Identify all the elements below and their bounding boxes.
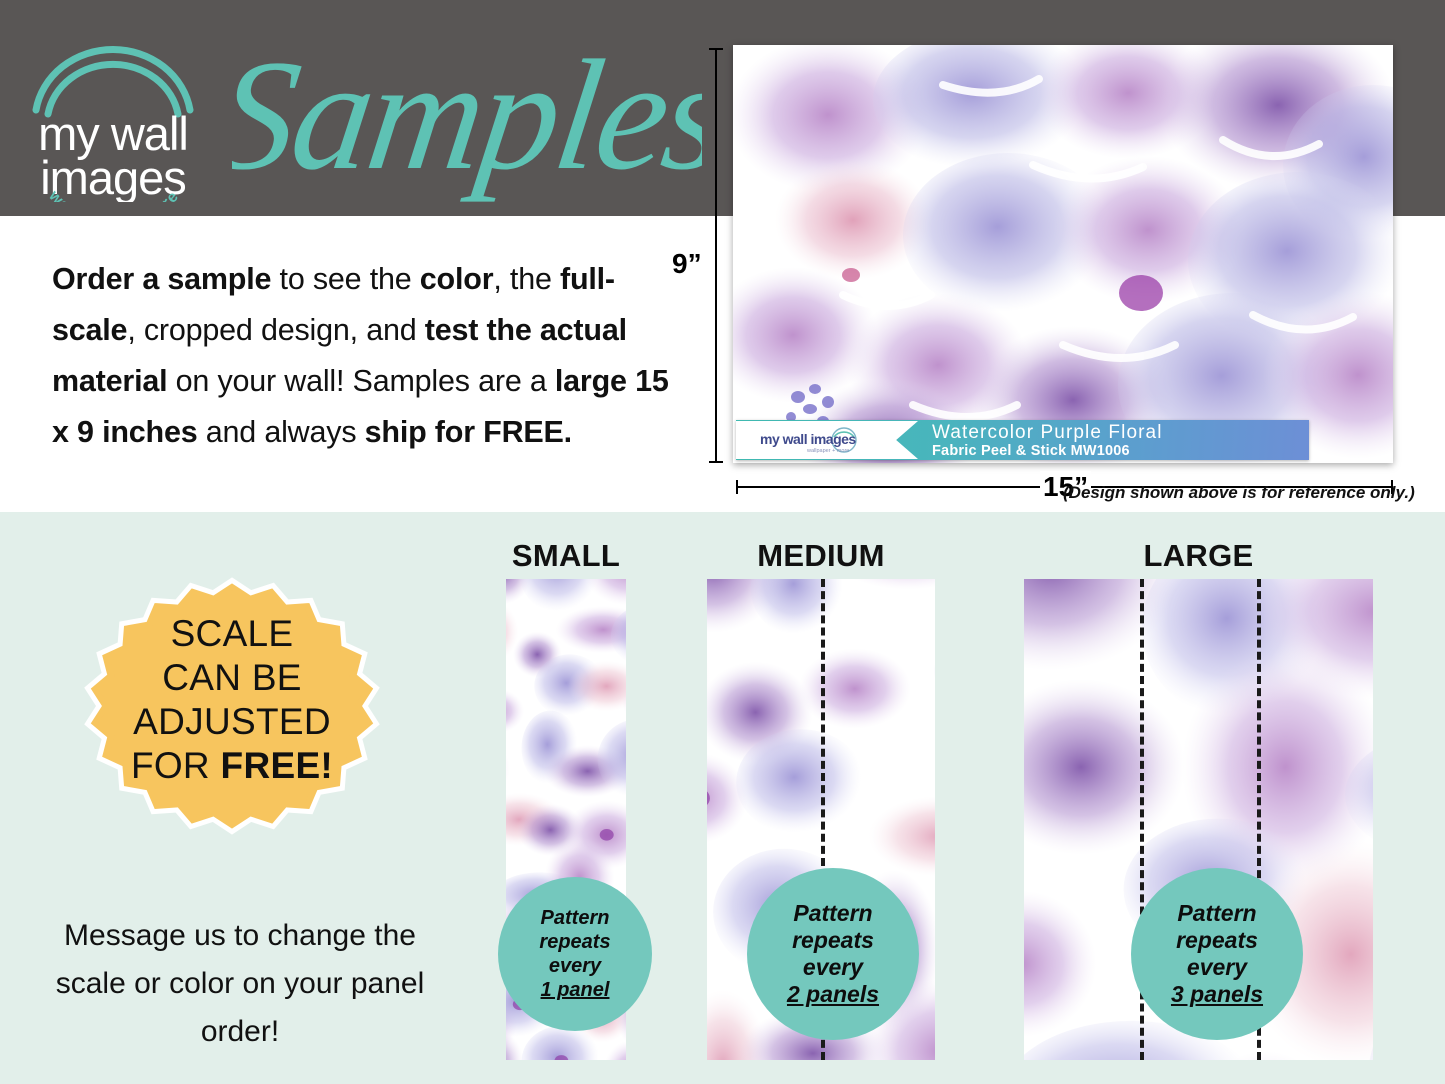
intro-segment-5: , cropped design, and [127, 313, 424, 347]
svg-text:wallpaper + more: wallpaper + more [806, 448, 849, 454]
repeat-line-2: repeats [539, 930, 610, 954]
pattern-repeat-badge-large: Patternrepeatsevery3 panels [1131, 868, 1303, 1040]
svg-text:Samples: Samples [232, 29, 702, 203]
svg-text:my wall images: my wall images [760, 431, 856, 447]
intro-segment-7: on your wall! Samples are a [167, 364, 555, 398]
intro-segment-2: color [420, 262, 494, 296]
samples-script-heading: Samples Samples [232, 18, 702, 208]
height-dimension-label: 9” [672, 248, 702, 280]
badge-line-4-bold: FREE! [221, 745, 334, 786]
repeat-line-1: Pattern [1171, 900, 1263, 927]
badge-line-4-regular: FOR [131, 745, 221, 786]
height-dimension-line [715, 48, 717, 463]
label-logo-badge: my wall images wallpaper + more my wall … [736, 421, 918, 459]
reference-note: (Design shown above is for reference onl… [1063, 483, 1415, 503]
intro-segment-1: to see the [271, 262, 420, 296]
repeat-line-2: repeats [787, 927, 879, 954]
header-bar: my wall images wallpaper + more my wall … [0, 0, 730, 216]
scale-title-medium: MEDIUM [707, 538, 935, 574]
repeat-line-1: Pattern [539, 906, 610, 930]
pattern-repeat-text: Patternrepeatsevery1 panel [539, 906, 610, 1002]
pattern-repeat-badge-small: Patternrepeatsevery1 panel [498, 877, 652, 1031]
repeat-count: 3 panels [1171, 981, 1263, 1008]
intro-segment-0: Order a sample [52, 262, 271, 296]
sample-label-subtitle: Fabric Peel & Stick MW1006 [932, 443, 1163, 459]
scale-title-large: LARGE [1024, 538, 1373, 574]
repeat-line-3: every [1171, 954, 1263, 981]
repeat-count: 2 panels [787, 981, 879, 1008]
scale-adjust-badge-text: SCALE CAN BE ADJUSTED FOR FREE! [62, 612, 402, 788]
intro-segment-3: , the [493, 262, 560, 296]
pattern-repeat-text: Patternrepeatsevery2 panels [787, 900, 879, 1008]
sample-preview-image [733, 45, 1393, 463]
intro-paragraph: Order a sample to see the color, the ful… [52, 254, 682, 458]
sample-label-title: Watercolor Purple Floral [932, 422, 1163, 443]
repeat-line-3: every [539, 954, 610, 978]
intro-segment-9: and always [198, 415, 365, 449]
scale-adjust-badge: SCALE CAN BE ADJUSTED FOR FREE! [62, 560, 402, 852]
sample-design-label: my wall images wallpaper + more my wall … [736, 420, 1309, 460]
scale-title-small: SMALL [506, 538, 626, 574]
repeat-line-3: every [787, 954, 879, 981]
repeat-line-2: repeats [1171, 927, 1263, 954]
brand-logo: my wall images wallpaper + more my wall … [18, 22, 208, 202]
repeat-count: 1 panel [539, 978, 610, 1002]
repeat-line-1: Pattern [787, 900, 879, 927]
badge-line-4: FOR FREE! [62, 744, 402, 788]
pattern-repeat-badge-medium: Patternrepeatsevery2 panels [747, 868, 919, 1040]
badge-line-2: CAN BE [62, 656, 402, 700]
badge-line-1: SCALE [62, 612, 402, 656]
badge-line-3: ADJUSTED [62, 700, 402, 744]
intro-segment-10: ship for FREE. [365, 415, 572, 449]
message-us-paragraph: Message us to change the scale or color … [40, 912, 440, 1056]
pattern-repeat-text: Patternrepeatsevery3 panels [1171, 900, 1263, 1008]
